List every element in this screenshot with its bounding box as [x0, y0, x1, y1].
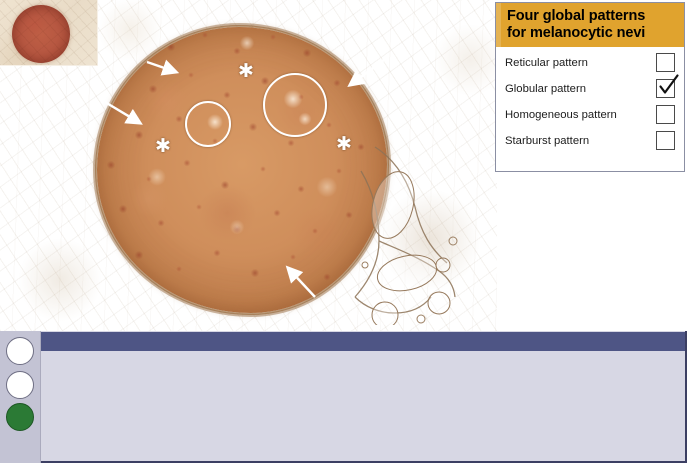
- checkbox-homogeneous[interactable]: [656, 105, 675, 124]
- pattern-row-reticular[interactable]: Reticular pattern: [496, 50, 684, 76]
- bottom-titlebar: [41, 332, 685, 351]
- pattern-row-homogeneous[interactable]: Homogeneous pattern: [496, 102, 684, 128]
- checkmark-icon: [656, 73, 680, 97]
- pattern-label-starburst: Starburst pattern: [505, 135, 589, 147]
- pattern-row-globular[interactable]: Globular pattern: [496, 76, 684, 102]
- checkbox-globular[interactable]: [656, 79, 675, 98]
- indicator-dot-3[interactable]: [6, 403, 34, 431]
- panel-header: Four global patterns for melanocytic nev…: [496, 3, 684, 47]
- asterisk-1: ✱: [238, 62, 254, 81]
- asterisk-2: ✱: [155, 137, 171, 156]
- indicator-rail: [0, 331, 41, 463]
- pattern-label-reticular: Reticular pattern: [505, 57, 588, 69]
- pattern-label-homogeneous: Homogeneous pattern: [505, 109, 617, 121]
- checkbox-starburst[interactable]: [656, 131, 675, 150]
- panel-title-line-1: Four global patterns: [507, 8, 677, 25]
- bottom-content-area: [41, 351, 685, 461]
- highlight-circle-small: [185, 101, 231, 147]
- dermoscopy-image: ✱ ✱ ✱: [0, 0, 497, 331]
- global-patterns-panel: Four global patterns for melanocytic nev…: [495, 2, 685, 172]
- indicator-dot-2[interactable]: [6, 371, 34, 399]
- bottom-bar: [0, 331, 687, 463]
- pattern-label-globular: Globular pattern: [505, 83, 586, 95]
- panel-title-line-2: for melanocytic nevi: [507, 25, 677, 42]
- highlight-circle-large: [263, 73, 327, 137]
- pattern-row-starburst[interactable]: Starburst pattern: [496, 128, 684, 154]
- clinical-inset: [0, 0, 98, 66]
- indicator-dot-1[interactable]: [6, 337, 34, 365]
- checkbox-reticular[interactable]: [656, 53, 675, 72]
- clinical-inset-texture: [0, 0, 97, 65]
- asterisk-3: ✱: [336, 135, 352, 154]
- figure-page: ✱ ✱ ✱ Four global patterns for melanocyt…: [0, 0, 687, 463]
- panel-body: Reticular pattern Globular pattern Homog…: [496, 47, 684, 154]
